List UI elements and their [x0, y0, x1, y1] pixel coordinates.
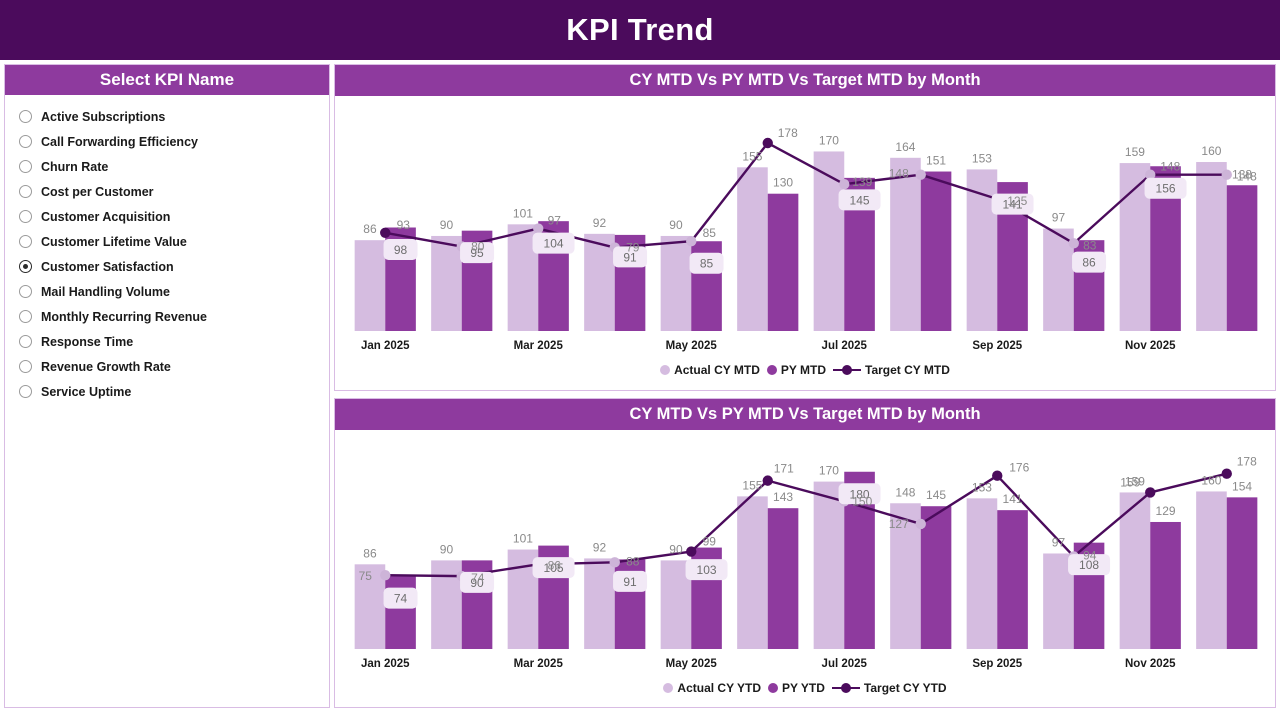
- x-axis-tick-label: Jul 2025: [822, 340, 868, 352]
- slicer-header: Select KPI Name: [5, 65, 329, 95]
- bar-py[interactable]: [1227, 185, 1258, 331]
- bar-py[interactable]: [385, 576, 416, 649]
- radio-unselected-icon[interactable]: [19, 210, 32, 223]
- chart-mtd-legend: Actual CY MTDPY MTDTarget CY MTD: [335, 357, 1275, 383]
- data-label: 153: [972, 151, 992, 165]
- target-marker[interactable]: [533, 223, 543, 233]
- x-axis-tick-label: Nov 2025: [1125, 340, 1176, 352]
- data-label: 85: [700, 257, 714, 271]
- radio-unselected-icon[interactable]: [19, 185, 32, 198]
- slicer-option-label: Response Time: [41, 335, 133, 349]
- data-label: 148: [889, 167, 909, 181]
- legend-dot-icon: [768, 683, 778, 693]
- data-label: 83: [1083, 238, 1097, 252]
- slicer-option-customer-lifetime-value[interactable]: Customer Lifetime Value: [19, 229, 329, 254]
- slicer-option-label: Customer Satisfaction: [41, 260, 174, 274]
- x-axis-tick-label: May 2025: [666, 340, 718, 352]
- data-label: 171: [774, 462, 794, 476]
- bar-actual[interactable]: [814, 151, 845, 331]
- data-label: 97: [548, 214, 562, 228]
- app-header: KPI Trend: [0, 0, 1280, 60]
- bar-py[interactable]: [768, 508, 799, 649]
- page-title: KPI Trend: [566, 12, 713, 48]
- data-label: 92: [593, 216, 607, 230]
- legend-item-target-cy-mtd[interactable]: Target CY MTD: [833, 363, 950, 377]
- slicer-option-label: Active Subscriptions: [41, 110, 165, 124]
- bar-actual[interactable]: [661, 236, 692, 331]
- data-label: 99: [703, 535, 717, 549]
- data-label: 88: [626, 554, 640, 568]
- legend-label: Actual CY MTD: [674, 363, 760, 377]
- data-label: 153: [972, 480, 992, 494]
- slicer-option-label: Churn Rate: [41, 160, 108, 174]
- x-axis-tick-label: Sep 2025: [972, 340, 1022, 352]
- bar-actual[interactable]: [967, 498, 998, 649]
- data-label: 155: [742, 149, 762, 163]
- slicer-option-churn-rate[interactable]: Churn Rate: [19, 154, 329, 179]
- target-marker[interactable]: [839, 179, 849, 189]
- chart-ytd-title: CY MTD Vs PY MTD Vs Target MTD by Month: [629, 405, 980, 424]
- data-label: 93: [397, 218, 411, 232]
- data-label: 92: [593, 540, 607, 554]
- slicer-option-customer-satisfaction[interactable]: Customer Satisfaction: [19, 254, 329, 279]
- data-label: 80: [471, 240, 485, 254]
- bar-py[interactable]: [921, 506, 952, 649]
- target-marker[interactable]: [686, 546, 696, 556]
- chart-mtd-title: CY MTD Vs PY MTD Vs Target MTD by Month: [629, 71, 980, 90]
- data-label: 164: [895, 140, 915, 154]
- data-label: 91: [623, 575, 637, 589]
- data-label: 148: [895, 485, 915, 499]
- chart-mtd-header: CY MTD Vs PY MTD Vs Target MTD by Month: [335, 65, 1275, 96]
- legend-item-target-cy-ytd[interactable]: Target CY YTD: [832, 681, 947, 695]
- radio-unselected-icon[interactable]: [19, 310, 32, 323]
- data-label: 150: [852, 494, 872, 508]
- data-label: 125: [1007, 194, 1027, 208]
- data-label: 129: [1156, 504, 1176, 518]
- data-label: 170: [819, 464, 839, 478]
- chart-mtd-plot[interactable]: 8698939095801011049792917990858515513017…: [335, 96, 1275, 357]
- data-label: 101: [513, 532, 533, 546]
- slicer-option-label: Customer Lifetime Value: [41, 235, 187, 249]
- data-label: 145: [850, 193, 870, 207]
- bar-py[interactable]: [1150, 522, 1181, 649]
- legend-label: PY MTD: [781, 363, 826, 377]
- data-label: 90: [440, 542, 454, 556]
- bar-actual[interactable]: [1196, 491, 1227, 649]
- data-label: 141: [1003, 492, 1023, 506]
- x-axis-tick-label: Jan 2025: [361, 340, 410, 352]
- data-label: 74: [471, 571, 485, 585]
- data-label: 74: [394, 592, 408, 606]
- chart-ytd-header: CY MTD Vs PY MTD Vs Target MTD by Month: [335, 399, 1275, 430]
- target-marker[interactable]: [1069, 238, 1079, 248]
- data-label: 86: [1082, 256, 1096, 270]
- data-label: 139: [852, 175, 872, 189]
- target-marker[interactable]: [1222, 169, 1232, 179]
- x-axis-tick-label: Nov 2025: [1125, 658, 1176, 670]
- data-label: 97: [1052, 211, 1066, 225]
- x-axis-tick-label: Jan 2025: [361, 658, 410, 670]
- data-label: 127: [889, 517, 909, 531]
- data-label: 160: [1201, 473, 1221, 487]
- slicer-option-call-forwarding-efficiency[interactable]: Call Forwarding Efficiency: [19, 129, 329, 154]
- target-marker[interactable]: [610, 557, 620, 567]
- radio-unselected-icon[interactable]: [19, 360, 32, 373]
- target-marker[interactable]: [380, 570, 390, 580]
- bar-actual[interactable]: [737, 167, 768, 331]
- kpi-option-list: Active SubscriptionsCall Forwarding Effi…: [5, 95, 329, 404]
- data-label: 94: [1083, 548, 1097, 562]
- legend-item-actual-cy-ytd[interactable]: Actual CY YTD: [663, 681, 761, 695]
- x-axis-tick-label: Jul 2025: [822, 658, 868, 670]
- data-label: 151: [926, 154, 946, 168]
- data-label: 86: [363, 546, 377, 560]
- data-label: 148: [1160, 160, 1180, 174]
- legend-label: Target CY YTD: [864, 681, 947, 695]
- target-marker[interactable]: [763, 475, 773, 485]
- target-marker[interactable]: [1222, 469, 1232, 479]
- data-label: 101: [513, 206, 533, 220]
- slicer-option-label: Mail Handling Volume: [41, 285, 170, 299]
- slicer-option-label: Monthly Recurring Revenue: [41, 310, 207, 324]
- bar-actual[interactable]: [890, 158, 921, 331]
- target-marker[interactable]: [686, 236, 696, 246]
- data-label: 148: [1237, 170, 1257, 184]
- data-label: 130: [773, 176, 793, 190]
- bar-actual[interactable]: [1196, 162, 1227, 331]
- x-axis-tick-label: May 2025: [666, 658, 718, 670]
- slicer-option-mail-handling-volume[interactable]: Mail Handling Volume: [19, 279, 329, 304]
- chart-panel-ytd: CY MTD Vs PY MTD Vs Target MTD by Month …: [334, 398, 1276, 708]
- legend-line-marker-icon: [833, 365, 861, 375]
- bar-actual[interactable]: [431, 560, 462, 649]
- x-axis-tick-label: Mar 2025: [514, 658, 564, 670]
- target-marker[interactable]: [916, 169, 926, 179]
- radio-unselected-icon[interactable]: [19, 110, 32, 123]
- data-label: 178: [778, 126, 798, 140]
- bar-actual[interactable]: [1120, 492, 1151, 649]
- radio-unselected-icon[interactable]: [19, 135, 32, 148]
- target-marker[interactable]: [763, 138, 773, 148]
- data-label: 143: [773, 490, 793, 504]
- legend-dot-icon: [663, 683, 673, 693]
- data-label: 160: [1201, 144, 1221, 158]
- slicer-option-label: Service Uptime: [41, 385, 131, 399]
- slicer-title: Select KPI Name: [100, 70, 234, 90]
- bar-actual[interactable]: [584, 558, 615, 649]
- data-label: 170: [819, 133, 839, 147]
- legend-item-actual-cy-mtd[interactable]: Actual CY MTD: [660, 363, 760, 377]
- data-label: 90: [440, 218, 454, 232]
- slicer-option-label: Customer Acquisition: [41, 210, 170, 224]
- bar-py[interactable]: [768, 194, 799, 331]
- data-label: 79: [626, 241, 640, 255]
- legend-label: Actual CY YTD: [677, 681, 761, 695]
- x-axis-tick-label: Sep 2025: [972, 658, 1022, 670]
- slicer-option-label: Call Forwarding Efficiency: [41, 135, 198, 149]
- radio-unselected-icon[interactable]: [19, 285, 32, 298]
- data-label: 86: [363, 222, 377, 236]
- data-label: 176: [1009, 461, 1029, 475]
- target-marker[interactable]: [916, 519, 926, 529]
- legend-item-py-mtd[interactable]: PY MTD: [767, 363, 826, 377]
- bar-py[interactable]: [1227, 497, 1258, 649]
- chart-panel-mtd: CY MTD Vs PY MTD Vs Target MTD by Month …: [334, 64, 1276, 391]
- legend-label: PY YTD: [782, 681, 825, 695]
- radio-unselected-icon[interactable]: [19, 235, 32, 248]
- bar-actual[interactable]: [431, 236, 462, 331]
- x-axis-tick-label: Mar 2025: [514, 340, 564, 352]
- radio-selected-icon[interactable]: [19, 260, 32, 273]
- data-label: 155: [742, 478, 762, 492]
- target-marker[interactable]: [380, 228, 390, 238]
- slicer-option-customer-acquisition[interactable]: Customer Acquisition: [19, 204, 329, 229]
- slicer-option-active-subscriptions[interactable]: Active Subscriptions: [19, 104, 329, 129]
- slicer-option-response-time[interactable]: Response Time: [19, 329, 329, 354]
- legend-dot-icon: [660, 365, 670, 375]
- bar-actual[interactable]: [814, 482, 845, 649]
- kpi-slicer-panel: Select KPI Name Active SubscriptionsCall…: [4, 64, 330, 708]
- legend-item-py-ytd[interactable]: PY YTD: [768, 681, 825, 695]
- data-label: 178: [1237, 455, 1257, 469]
- data-label: 104: [544, 237, 564, 251]
- legend-label: Target CY MTD: [865, 363, 950, 377]
- legend-line-marker-icon: [832, 683, 860, 693]
- bar-py[interactable]: [921, 172, 952, 331]
- bar-actual[interactable]: [355, 240, 386, 331]
- slicer-option-revenue-growth-rate[interactable]: Revenue Growth Rate: [19, 354, 329, 379]
- target-marker[interactable]: [1145, 487, 1155, 497]
- slicer-option-cost-per-customer[interactable]: Cost per Customer: [19, 179, 329, 204]
- slicer-option-monthly-recurring-revenue[interactable]: Monthly Recurring Revenue: [19, 304, 329, 329]
- data-label: 159: [1125, 145, 1145, 159]
- bar-actual[interactable]: [737, 496, 768, 649]
- radio-unselected-icon[interactable]: [19, 335, 32, 348]
- data-label: 103: [697, 563, 717, 577]
- radio-unselected-icon[interactable]: [19, 160, 32, 173]
- data-label: 145: [926, 488, 946, 502]
- data-label: 159: [1120, 475, 1140, 489]
- target-marker[interactable]: [992, 470, 1002, 480]
- data-label: 154: [1232, 479, 1252, 493]
- data-label: 90: [669, 542, 683, 556]
- data-label: 98: [394, 243, 408, 257]
- data-label: 75: [359, 569, 373, 583]
- bar-py[interactable]: [997, 510, 1028, 649]
- chart-ytd-plot[interactable]: 8674759090741011058692918890103991551431…: [335, 430, 1275, 675]
- data-label: 156: [1156, 182, 1176, 196]
- data-label: 86: [548, 558, 562, 572]
- legend-dot-icon: [767, 365, 777, 375]
- slicer-option-service-uptime[interactable]: Service Uptime: [19, 379, 329, 404]
- data-label: 90: [669, 218, 683, 232]
- data-label: 97: [1052, 535, 1066, 549]
- data-label: 85: [703, 226, 717, 240]
- chart-ytd-legend: Actual CY YTDPY YTDTarget CY YTD: [335, 675, 1275, 701]
- radio-unselected-icon[interactable]: [19, 385, 32, 398]
- slicer-option-label: Revenue Growth Rate: [41, 360, 171, 374]
- slicer-option-label: Cost per Customer: [41, 185, 154, 199]
